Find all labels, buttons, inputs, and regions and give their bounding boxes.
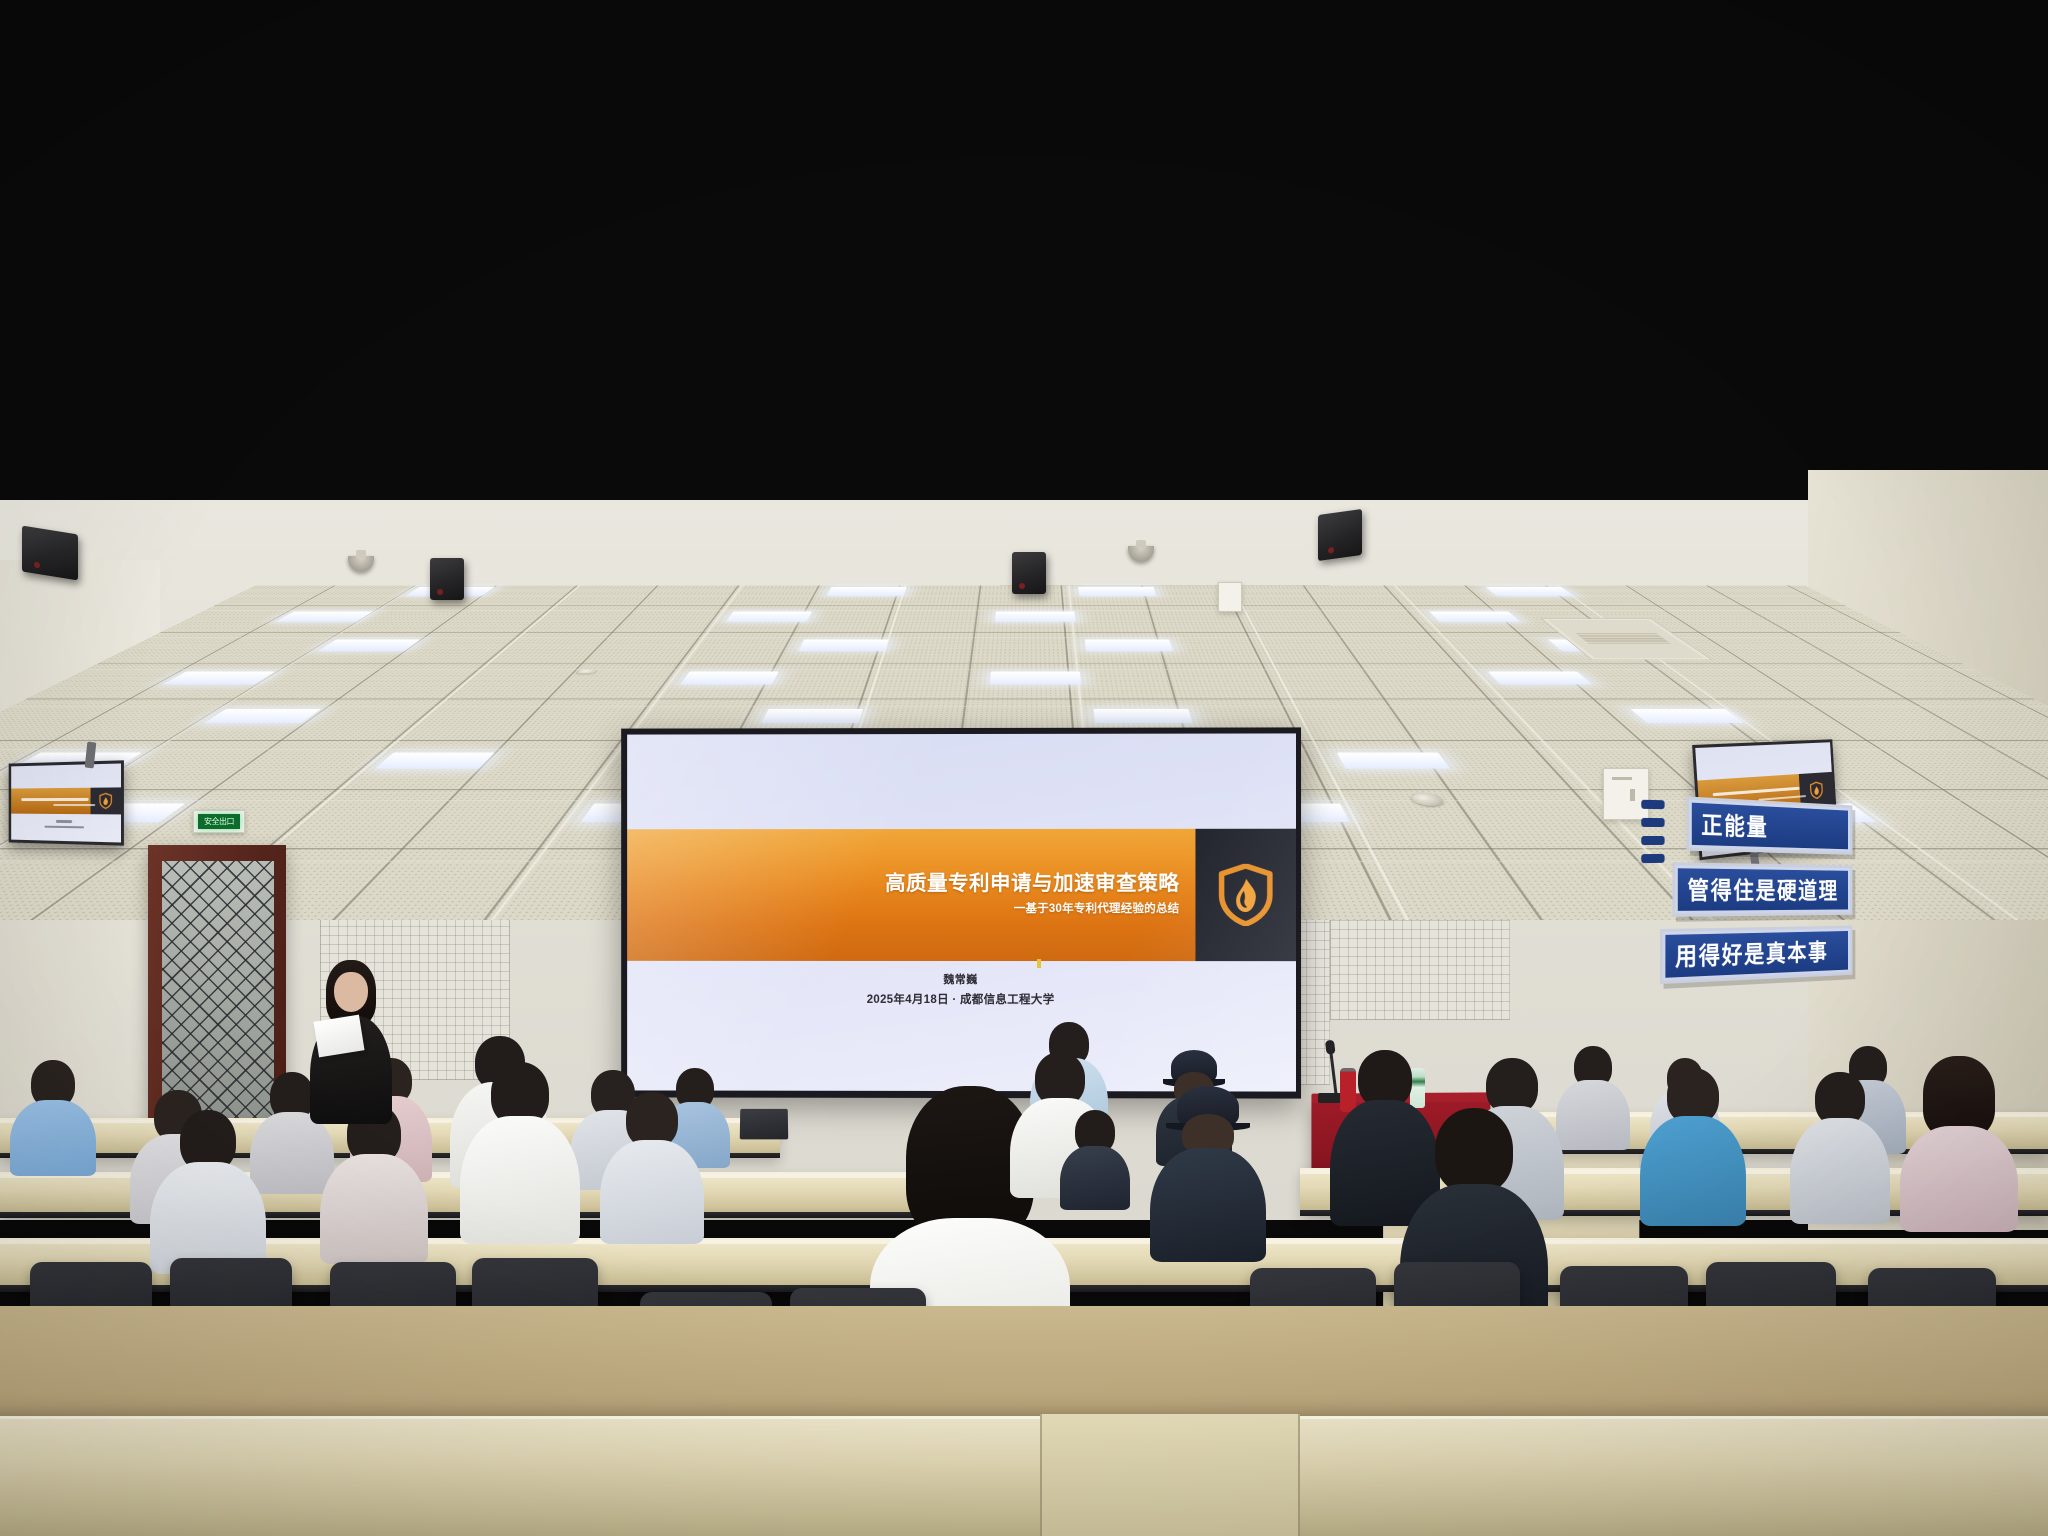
ceiling-light-panel	[1337, 753, 1450, 769]
ceiling-light-panel	[1488, 672, 1592, 685]
projection-screen-surface: 高质量专利申请与加速审查策略 一基于30年专利代理经验的总结 魏常巍 2025年…	[627, 733, 1296, 1091]
slide-date-venue: 2025年4月18日 · 成都信息工程大学	[627, 991, 1296, 1008]
ceiling-light-panel	[1630, 709, 1744, 723]
ceiling-light-panel	[761, 709, 863, 723]
ceiling-light-panel	[275, 612, 372, 622]
exit-sign-label: 安全出口	[198, 814, 240, 829]
audience-person	[150, 1110, 266, 1270]
ceiling-light-panel	[318, 640, 420, 651]
ceiling-rail	[205, 610, 1856, 611]
slide-orange-band: 高质量专利申请与加速审查策略 一基于30年专利代理经验的总结	[627, 828, 1195, 960]
front-desk-surface	[0, 1416, 2048, 1536]
lecture-hall-photo: 正能量 管得住是硬道理 用得好是真本事 安全出口 高质量专利申请与加速审查策略 …	[0, 0, 2048, 1536]
ac-louver	[1575, 633, 1671, 643]
ceiling-rail	[10, 706, 2048, 707]
ceiling-light-panel	[1486, 587, 1574, 596]
slogan-plaque-2: 管得住是硬道理	[1672, 862, 1852, 917]
audience-person	[1790, 1072, 1890, 1218]
slide-title: 高质量专利申请与加速审查策略	[885, 873, 1179, 896]
left-monitor-surface	[11, 763, 121, 842]
wall-control-panel[interactable]	[1218, 582, 1242, 612]
audience-person	[460, 1062, 580, 1242]
audience-person	[1556, 1046, 1630, 1146]
flame-shield-logo	[1218, 863, 1274, 925]
wall-speaker-right	[1012, 552, 1046, 594]
presenter-script-paper	[313, 1015, 364, 1058]
audience-person	[10, 1060, 96, 1170]
ceiling-light-panel	[995, 612, 1076, 622]
ceiling-light-panel	[726, 612, 812, 622]
audience-person-with-cap	[1150, 1086, 1266, 1256]
slide-footer: 魏常巍 2025年4月18日 · 成都信息工程大学	[627, 971, 1296, 1007]
laptop-open-center[interactable]	[740, 1109, 788, 1139]
wall-speaker-far-right	[1318, 509, 1362, 561]
front-desk-center-module	[1040, 1414, 1300, 1536]
ceiling-light-panel	[799, 640, 889, 651]
wall-speaker-left	[430, 558, 464, 600]
presenter-cursor	[1037, 959, 1041, 968]
ceiling-rail	[85, 669, 1976, 670]
left-monitor-slide-band	[11, 787, 121, 814]
audience-person	[1900, 1056, 2018, 1224]
left-monitor-orange-band	[11, 788, 91, 814]
ceiling-light-panel	[1430, 612, 1521, 622]
slide-title-band: 高质量专利申请与加速审查策略 一基于30年专利代理经验的总结	[627, 828, 1296, 961]
wall-speaker-far-left	[22, 526, 78, 581]
ceiling-light-panel	[1078, 587, 1156, 596]
ceiling-light-panel	[681, 672, 779, 685]
projection-screen: 高质量专利申请与加速审查策略 一基于30年专利代理经验的总结 魏常巍 2025年…	[621, 727, 1301, 1098]
ceiling-light-panel	[1085, 640, 1173, 651]
audience-person	[600, 1092, 704, 1242]
audience-person	[1060, 1110, 1130, 1206]
flame-shield-logo	[1810, 781, 1824, 799]
ceiling-light-panel	[204, 709, 321, 723]
flame-shield-logo	[99, 792, 112, 809]
ceiling-light-panel	[375, 753, 495, 769]
audience-person	[1640, 1068, 1746, 1220]
slogan-plaque-3: 用得好是真本事	[1660, 926, 1852, 984]
ceiling-light-panel	[827, 587, 907, 596]
audience-person	[320, 1104, 428, 1260]
blue-slogan-plaques: 正能量 管得住是硬道理 用得好是真本事	[1660, 795, 1852, 996]
slide-subtitle: 一基于30年专利代理经验的总结	[1014, 900, 1180, 916]
ceiling-light-panel	[990, 672, 1081, 685]
left-monitor-footer	[30, 820, 100, 832]
emergency-exit-sign: 安全出口	[193, 810, 245, 833]
left-wall-monitor	[9, 760, 124, 845]
slide-logo-panel	[1195, 828, 1296, 961]
ceiling-light-panel	[1094, 709, 1193, 723]
slide-presenter-name: 魏常巍	[627, 971, 1296, 987]
slogan-plaque-1: 正能量	[1687, 796, 1853, 854]
left-monitor-logo-panel	[91, 787, 121, 814]
